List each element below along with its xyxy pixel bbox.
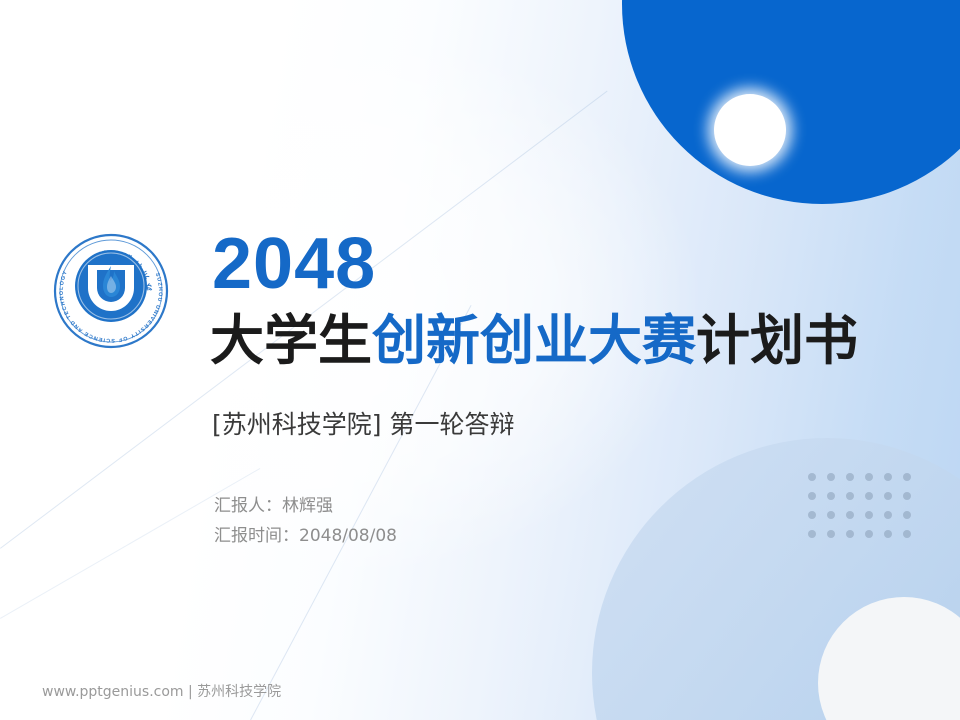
presentation-cover-slide: SUZHOU UNIVERSITY OF SCIENCE AND TECHNOL… (0, 0, 960, 720)
page-title-part-1: 大学生 (210, 309, 372, 372)
white-circle-decoration-top (714, 94, 786, 166)
page-title-part-2: 创新创业大赛 (372, 309, 696, 372)
date-line: 汇报时间：2048/08/08 (214, 522, 397, 552)
presenter-line: 汇报人：林辉强 (214, 492, 397, 522)
university-logo-icon: SUZHOU UNIVERSITY OF SCIENCE AND TECHNOL… (52, 232, 170, 350)
page-title-part-3: 计划书 (696, 309, 858, 372)
page-year: 2048 (212, 228, 376, 300)
dot-grid-decoration (808, 473, 922, 549)
page-title: 大学生创新创业大赛计划书 (210, 312, 858, 370)
page-subtitle: [苏州科技学院] 第一轮答辩 (212, 405, 514, 441)
presentation-meta: 汇报人：林辉强 汇报时间：2048/08/08 (214, 492, 397, 552)
footer-text: www.pptgenius.com | 苏州科技学院 (42, 681, 281, 701)
